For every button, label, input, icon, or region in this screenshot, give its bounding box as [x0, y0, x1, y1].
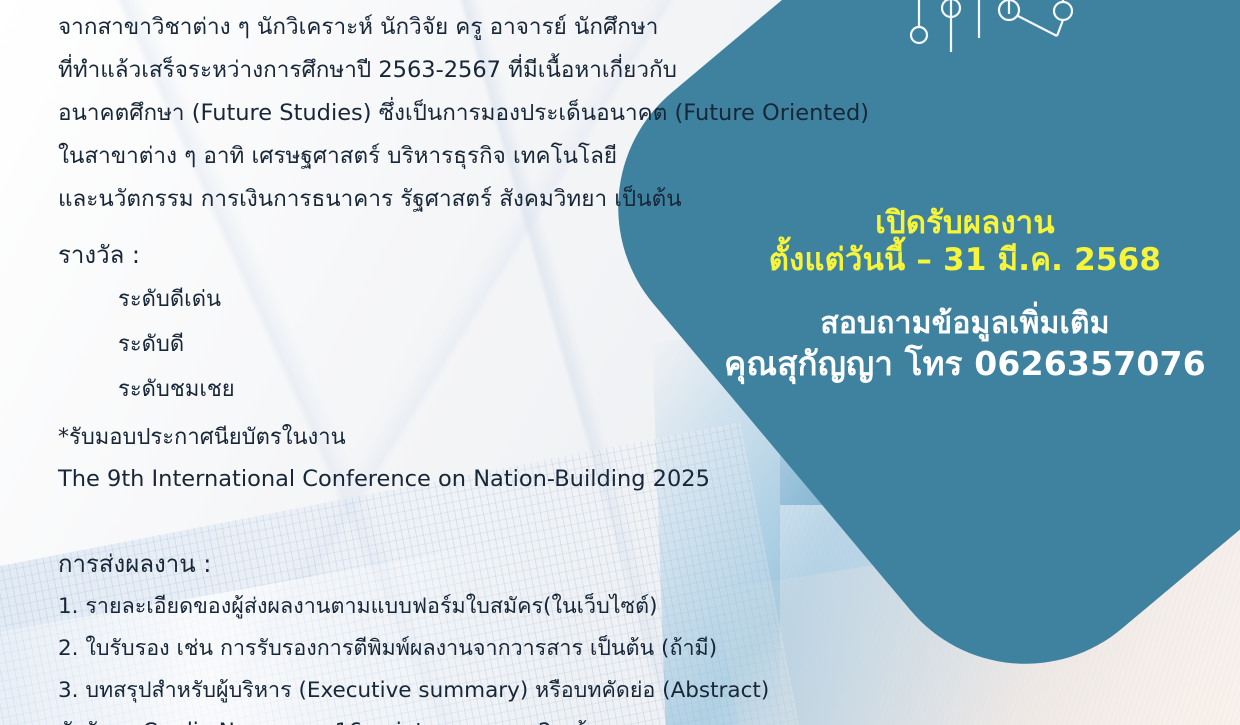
- badge-contact-line-1: สอบถามข้อมูลเพิ่มเติม: [705, 305, 1225, 343]
- badge-contact-line-2: คุณสุกัญญา โทร 0626357076: [705, 343, 1225, 385]
- badge-call-line-2: ตั้งแต่วันนี้ – 31 มี.ค. 2568: [705, 242, 1225, 279]
- font-specification: ตัวอักษร Cordia New ขนาด 16 points ความย…: [58, 712, 878, 725]
- submission-item-1: 1. รายละเอียดของผู้ส่งผลงานตามแบบฟอร์มใบ…: [58, 586, 878, 628]
- badge-contact-block: สอบถามข้อมูลเพิ่มเติม คุณสุกัญญา โทร 062…: [705, 305, 1225, 385]
- intro-line-3: อนาคตศึกษา (Future Studies) ซึ่งเป็นการม…: [58, 92, 878, 135]
- intro-line-1: จากสาขาวิชาต่าง ๆ นักวิเคราะห์ นักวิจัย …: [58, 6, 878, 49]
- badge-call-line-1: เปิดรับผลงาน: [705, 205, 1225, 242]
- submission-item-3: 3. บทสรุปสำหรับผู้บริหาร (Executive summ…: [58, 670, 878, 712]
- badge-text-block: เปิดรับผลงาน ตั้งแต่วันนี้ – 31 มี.ค. 25…: [705, 205, 1225, 385]
- submission-heading: การส่งผลงาน :: [58, 542, 878, 586]
- intro-line-2: ที่ทำแล้วเสร็จระหว่างการศึกษาปี 2563-256…: [58, 49, 878, 92]
- intro-line-4: ในสาขาต่าง ๆ อาทิ เศรษฐศาสตร์ บริหารธุรก…: [58, 135, 878, 178]
- certificate-note: *รับมอบประกาศนียบัตรในงาน: [58, 418, 878, 458]
- poster-canvas: จากสาขาวิชาต่าง ๆ นักวิเคราะห์ นักวิจัย …: [0, 0, 1240, 725]
- conference-name: The 9th International Conference on Nati…: [58, 460, 878, 498]
- submission-item-2: 2. ใบรับรอง เช่น การรับรองการตีพิมพ์ผลงา…: [58, 628, 878, 670]
